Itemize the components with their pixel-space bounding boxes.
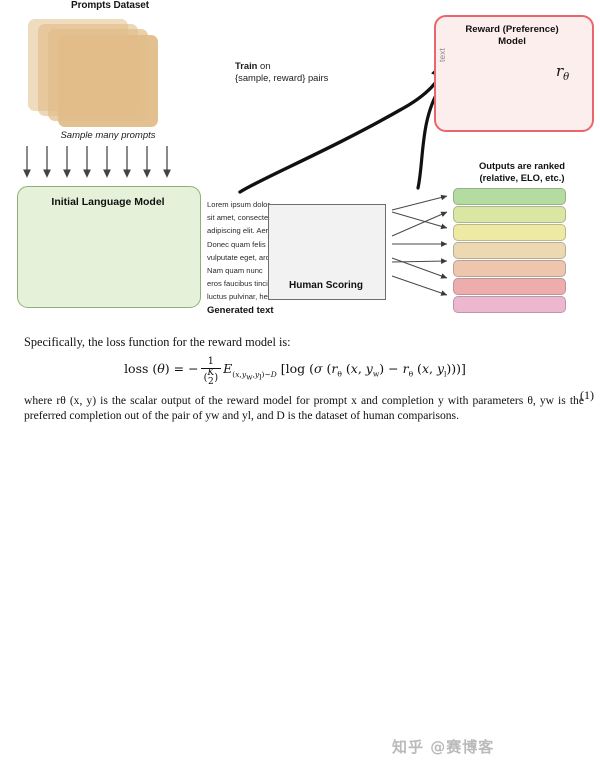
outputs-title-line1: Outputs are ranked (479, 160, 565, 171)
reward-model-title-line2: Model (498, 36, 526, 47)
loss-formula: loss (θ) = −1(K2)E(x,yw,yl)~D [log (σ (r… (50, 357, 540, 387)
sample-many-prompts-caption: Sample many prompts (18, 130, 198, 141)
reward-model-title-line1: Reward (Preference) (465, 24, 558, 35)
ranked-output-bar (453, 278, 566, 295)
outputs-title-line2: (relative, ELO, etc.) (480, 172, 565, 183)
train-caption-line2: {sample, reward} pairs (235, 72, 328, 83)
where-paragraph: where rθ (x, y) is the scalar output of … (24, 394, 584, 423)
sample-prompts-arrows (27, 146, 167, 176)
reward-model-title: Reward (Preference) Model (434, 24, 590, 48)
zhihu-watermark: 知乎 @赛博客 (392, 736, 592, 760)
prompts-dataset-title: Prompts Dataset (30, 0, 190, 11)
outputs-ranked-title: Outputs are ranked (relative, ELO, etc.) (444, 160, 600, 183)
reward-model-output-symbol: rθ (556, 62, 569, 83)
train-caption-rest: on (257, 60, 270, 71)
loss-formula-row: loss (θ) = −1(K2)E(x,yw,yl)~D [log (σ (r… (0, 357, 600, 391)
ranked-output-bar (453, 260, 566, 277)
reward-model-input-label: text (437, 48, 447, 62)
initial-language-model-title: Initial Language Model (17, 196, 199, 208)
human-scoring-label: Human Scoring (268, 280, 384, 291)
train-caption-bold: Train (235, 60, 257, 71)
ranked-output-bar (453, 224, 566, 241)
train-on-caption: Train on {sample, reward} pairs (235, 60, 375, 85)
prompt-card (58, 35, 158, 127)
ranked-output-bar (453, 296, 566, 313)
ranked-output-bar (453, 188, 566, 205)
theta-subscript: θ (563, 72, 569, 83)
ranked-output-bar (453, 206, 566, 223)
rlhf-reward-model-diagram: Prompts Dataset Sample many prompts Init… (0, 0, 600, 330)
paper-text-section: Specifically, the loss function for the … (0, 330, 600, 446)
ranked-output-bar (453, 242, 566, 259)
ranking-arrows (392, 196, 447, 295)
loss-intro-sentence: Specifically, the loss function for the … (24, 335, 291, 350)
generated-text-label: Generated text (207, 305, 274, 316)
